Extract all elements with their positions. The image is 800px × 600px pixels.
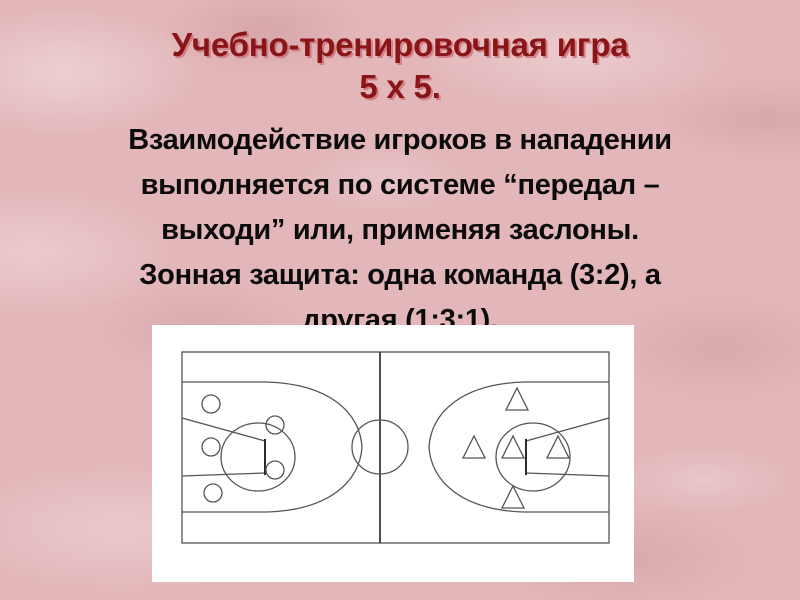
left-player-marker xyxy=(202,438,220,456)
left-key-trapezoid xyxy=(182,418,265,476)
slide-content: Учебно-тренировочная игра 5 х 5. Взаимод… xyxy=(0,0,800,600)
left-player-marker xyxy=(204,484,222,502)
body-line-3: выходи” или, применяя заслоны. xyxy=(36,208,764,253)
right-key-trapezoid xyxy=(526,418,609,476)
court-boundary xyxy=(182,352,609,543)
left-free-throw-circle xyxy=(221,423,295,491)
left-player-marker xyxy=(202,395,220,413)
right-player-marker xyxy=(506,388,528,410)
body-line-2: выполняется по системе “передал – xyxy=(36,163,764,208)
right-player-marker xyxy=(547,436,569,458)
slide-body-text: Взаимодействие игроков в нападении выпол… xyxy=(36,118,764,343)
title-line-1: Учебно-тренировочная игра xyxy=(40,24,760,66)
right-player-marker xyxy=(502,436,524,458)
right-free-throw-circle xyxy=(496,423,570,491)
title-line-2: 5 х 5. xyxy=(40,66,760,108)
slide-title: Учебно-тренировочная игра 5 х 5. xyxy=(40,24,760,108)
left-player-marker xyxy=(266,461,284,479)
slide-canvas: Учебно-тренировочная игра 5 х 5. Взаимод… xyxy=(0,0,800,600)
body-line-1: Взаимодействие игроков в нападении xyxy=(36,118,764,163)
left-three-point-arc xyxy=(267,382,362,512)
body-line-4: Зонная защита: одна команда (3:2), а xyxy=(36,253,764,298)
right-player-marker xyxy=(463,436,485,458)
basketball-court-image xyxy=(152,325,634,582)
basketball-court-svg xyxy=(152,325,634,582)
